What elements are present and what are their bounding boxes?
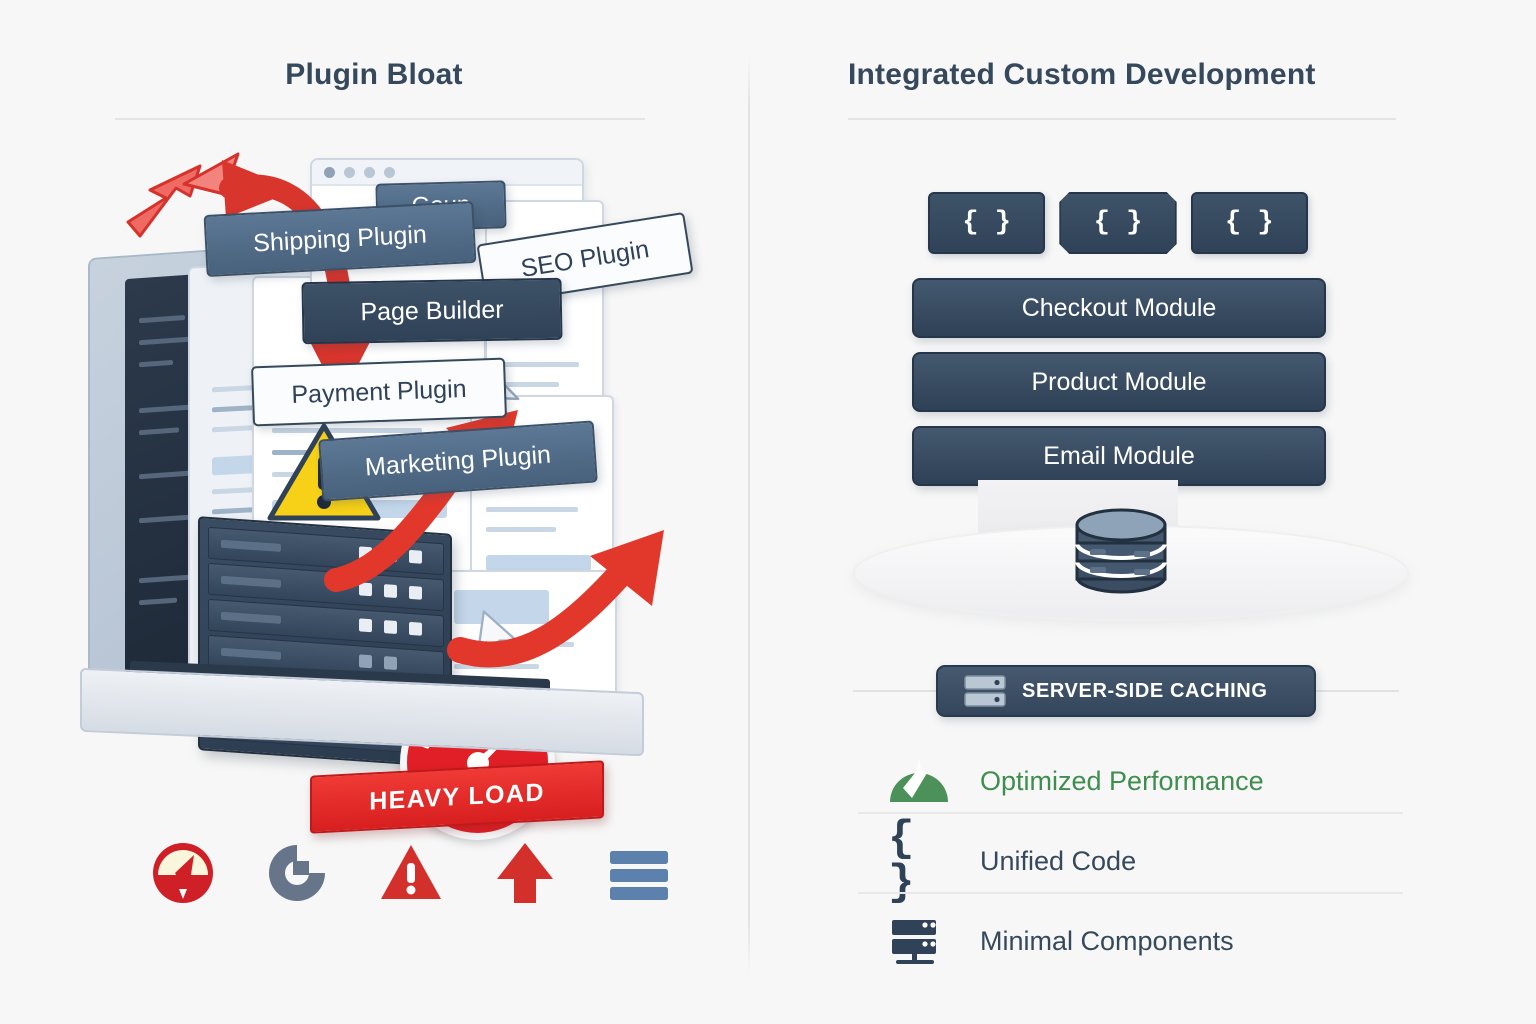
server-stack-icon <box>888 916 950 966</box>
code-braces-icon: { } <box>888 836 950 886</box>
plugin-label-page-builder: Page Builder <box>301 278 562 345</box>
right-panel: Integrated Custom Development { } { } { … <box>748 0 1536 1024</box>
speedometer-red-icon <box>150 837 216 909</box>
loading-spinner-icon <box>264 837 330 909</box>
warning-triangle-icon <box>378 837 444 909</box>
right-panel-title: Integrated Custom Development <box>848 58 1316 92</box>
feature-unified-code: { } Unified Code <box>888 825 1408 897</box>
feature-minimal-components: Minimal Components <box>888 905 1408 977</box>
left-icon-strip <box>150 828 570 918</box>
plugin-bloat-illustration: HEAVY LOAD <box>70 140 690 760</box>
cache-banner-label: SERVER-SIDE CACHING <box>1022 680 1268 703</box>
feature-optimized-performance: Optimized Performance <box>888 745 1408 817</box>
feature-label: Optimized Performance <box>980 766 1264 797</box>
left-title-rule <box>115 118 645 120</box>
code-block-3: { } <box>1191 192 1308 254</box>
right-title-rule <box>848 118 1396 120</box>
cache-rule-left <box>853 690 937 692</box>
plugin-label-payment: Payment Plugin <box>251 358 507 427</box>
heavy-load-banner: HEAVY LOAD <box>310 760 604 833</box>
module-product: Product Module <box>912 352 1326 412</box>
module-email: Email Module <box>912 426 1326 486</box>
stacked-bars-icon <box>606 837 672 909</box>
feature-rule-2 <box>858 892 1403 894</box>
cache-rule-right <box>1315 690 1399 692</box>
database-cylinder-icon <box>1066 505 1176 610</box>
red-arrow-sweep-icon <box>450 500 700 670</box>
feature-rule-1 <box>858 812 1403 814</box>
up-arrow-icon <box>492 837 558 909</box>
code-block-2: { } <box>1059 192 1176 254</box>
infographic-canvas: Plugin Bloat <box>0 0 1536 1024</box>
code-block-row: { } { } { } <box>928 192 1308 254</box>
left-panel-title: Plugin Bloat <box>0 58 748 92</box>
code-block-1: { } <box>928 192 1045 254</box>
feature-label: Unified Code <box>980 846 1136 877</box>
server-stack-icon <box>964 674 1006 708</box>
gauge-check-icon <box>888 756 950 806</box>
left-panel: Plugin Bloat <box>0 0 748 1024</box>
module-checkout: Checkout Module <box>912 278 1326 338</box>
server-side-caching-banner: SERVER-SIDE CACHING <box>936 665 1316 717</box>
feature-label: Minimal Components <box>980 926 1234 957</box>
